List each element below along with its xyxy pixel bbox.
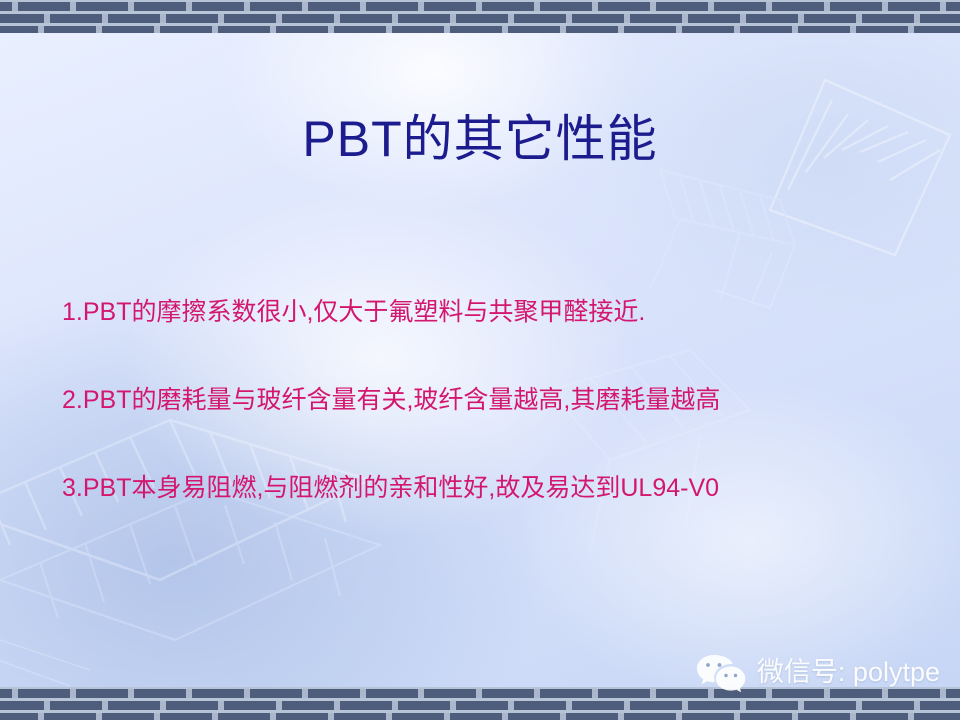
slide-canvas: PBT的其它性能 1.PBT的摩擦系数很小,仅大于氟塑料与共聚甲醛接近. 2.P… — [0, 0, 960, 720]
bullet-item-3: 3.PBT本身易阻燃,与阻燃剂的亲和性好,故及易达到UL94-V0 — [62, 474, 932, 503]
bullet-item-1: 1.PBT的摩擦系数很小,仅大于氟塑料与共聚甲醛接近. — [62, 298, 932, 327]
wechat-watermark: 微信号: polytpe — [695, 652, 940, 692]
top-brick-border — [0, 0, 960, 33]
slide-title: PBT的其它性能 — [0, 112, 960, 167]
wechat-icon — [695, 652, 747, 692]
bullet-item-2: 2.PBT的磨耗量与玻纤含量有关,玻纤含量越高,其磨耗量越高 — [62, 386, 932, 415]
wechat-id-text: 微信号: polytpe — [757, 659, 940, 686]
brick-row — [0, 24, 960, 33]
background-architecture-art-upper-right — [620, 40, 960, 340]
slide-body: 1.PBT的摩擦系数很小,仅大于氟塑料与共聚甲醛接近. 2.PBT的磨耗量与玻纤… — [62, 298, 932, 502]
brick-row — [0, 711, 960, 720]
